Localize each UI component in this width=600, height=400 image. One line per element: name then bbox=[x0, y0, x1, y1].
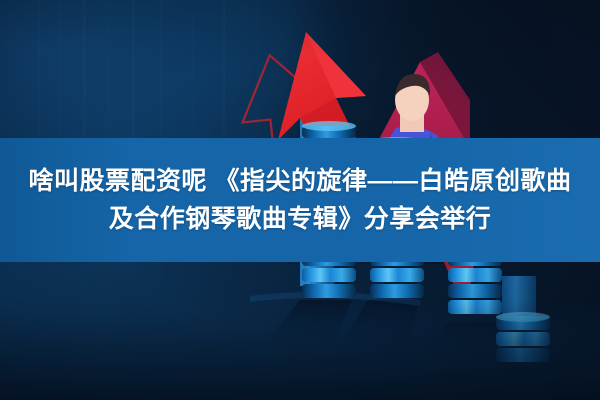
caption-line-2: 及合作钢琴歌曲专辑》分享会举行 bbox=[109, 200, 492, 238]
caption-line-1: 啥叫股票配资呢 《指尖的旋律——白皓原创歌曲 bbox=[29, 162, 572, 200]
cover-image: 啥叫股票配资呢 《指尖的旋律——白皓原创歌曲 及合作钢琴歌曲专辑》分享会举行 bbox=[0, 0, 600, 400]
caption-band: 啥叫股票配资呢 《指尖的旋律——白皓原创歌曲 及合作钢琴歌曲专辑》分享会举行 bbox=[0, 138, 600, 262]
